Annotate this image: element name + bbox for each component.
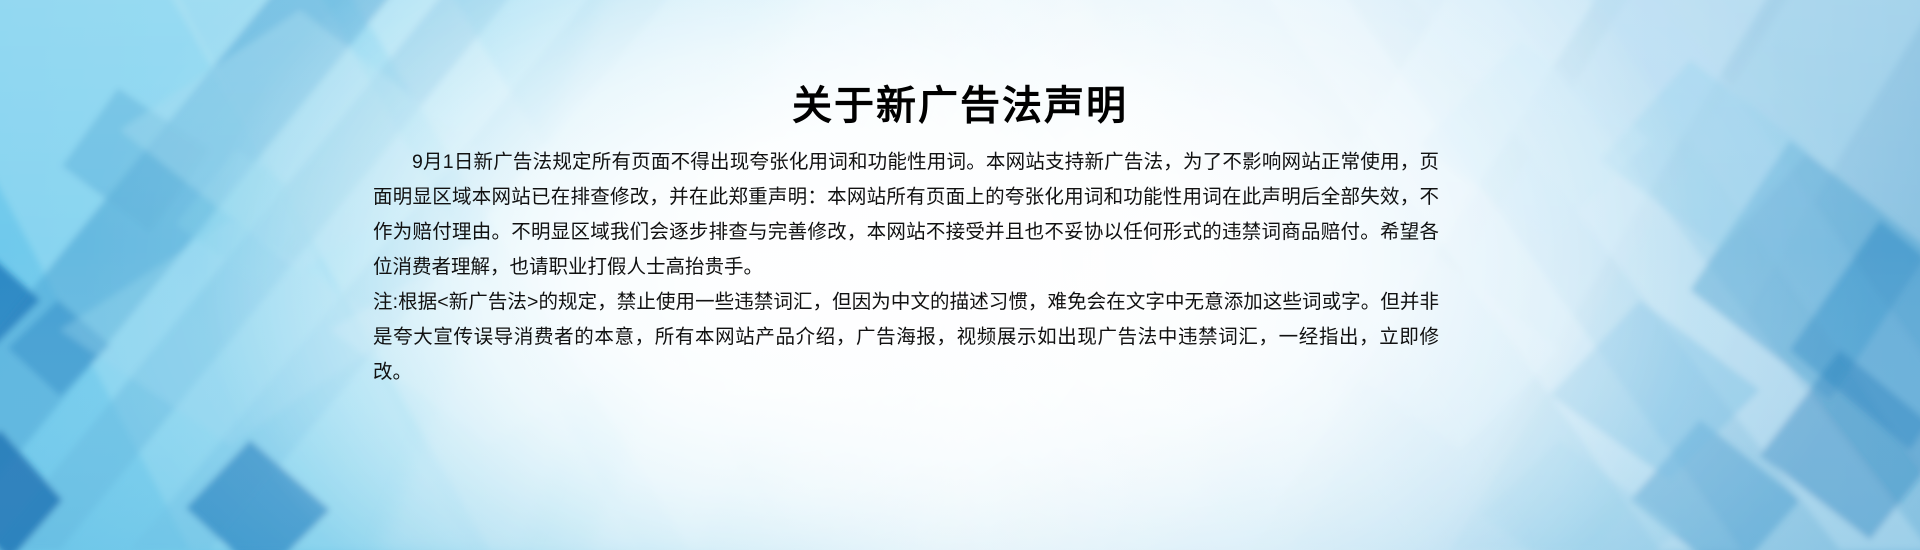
banner-content: 关于新广告法声明 9月1日新广告法规定所有页面不得出现夸张化用词和功能性用词。本… <box>0 0 1920 550</box>
advertising-law-statement-banner: 关于新广告法声明 9月1日新广告法规定所有页面不得出现夸张化用词和功能性用词。本… <box>0 0 1920 550</box>
statement-paragraph-note: 注:根据<新广告法>的规定，禁止使用一些违禁词汇，但因为中文的描述习惯，难免会在… <box>373 285 1439 390</box>
statement-body: 9月1日新广告法规定所有页面不得出现夸张化用词和功能性用词。本网站支持新广告法，… <box>373 145 1439 390</box>
page-title: 关于新广告法声明 <box>0 82 1920 130</box>
statement-paragraph-main: 9月1日新广告法规定所有页面不得出现夸张化用词和功能性用词。本网站支持新广告法，… <box>373 145 1439 285</box>
